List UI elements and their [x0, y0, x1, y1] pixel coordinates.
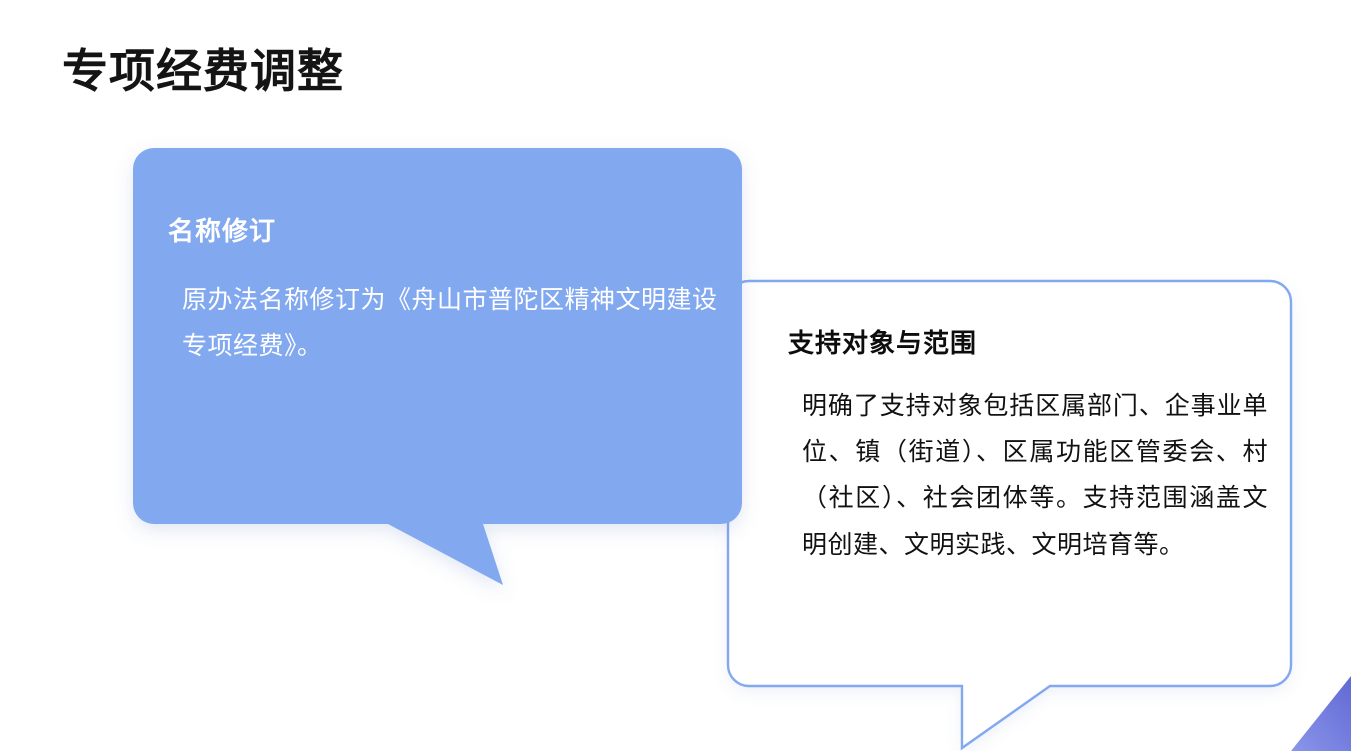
- page-title: 专项经费调整: [62, 45, 344, 98]
- callout-heading-name-revision: 名称修订: [168, 215, 728, 249]
- callout-body-support-scope: 明确了支持对象包括区属部门、企事业单位、镇（街道）、区属功能区管委会、村（社区）…: [788, 383, 1268, 568]
- corner-triangle-decoration: [1291, 676, 1351, 751]
- callout-support-scope: 支持对象与范围 明确了支持对象包括区属部门、企事业单位、镇（街道）、区属功能区管…: [788, 327, 1268, 568]
- callout-name-revision: 名称修订 原办法名称修订为《舟山市普陀区精神文明建设专项经费》。: [168, 215, 728, 369]
- callout-heading-support-scope: 支持对象与范围: [788, 327, 1268, 361]
- slide-canvas: 专项经费调整 名称修订 原办法名称修订为《舟山市普陀区精神文明建设专项经费》。 …: [0, 0, 1351, 751]
- callout-body-name-revision: 原办法名称修订为《舟山市普陀区精神文明建设专项经费》。: [168, 277, 728, 370]
